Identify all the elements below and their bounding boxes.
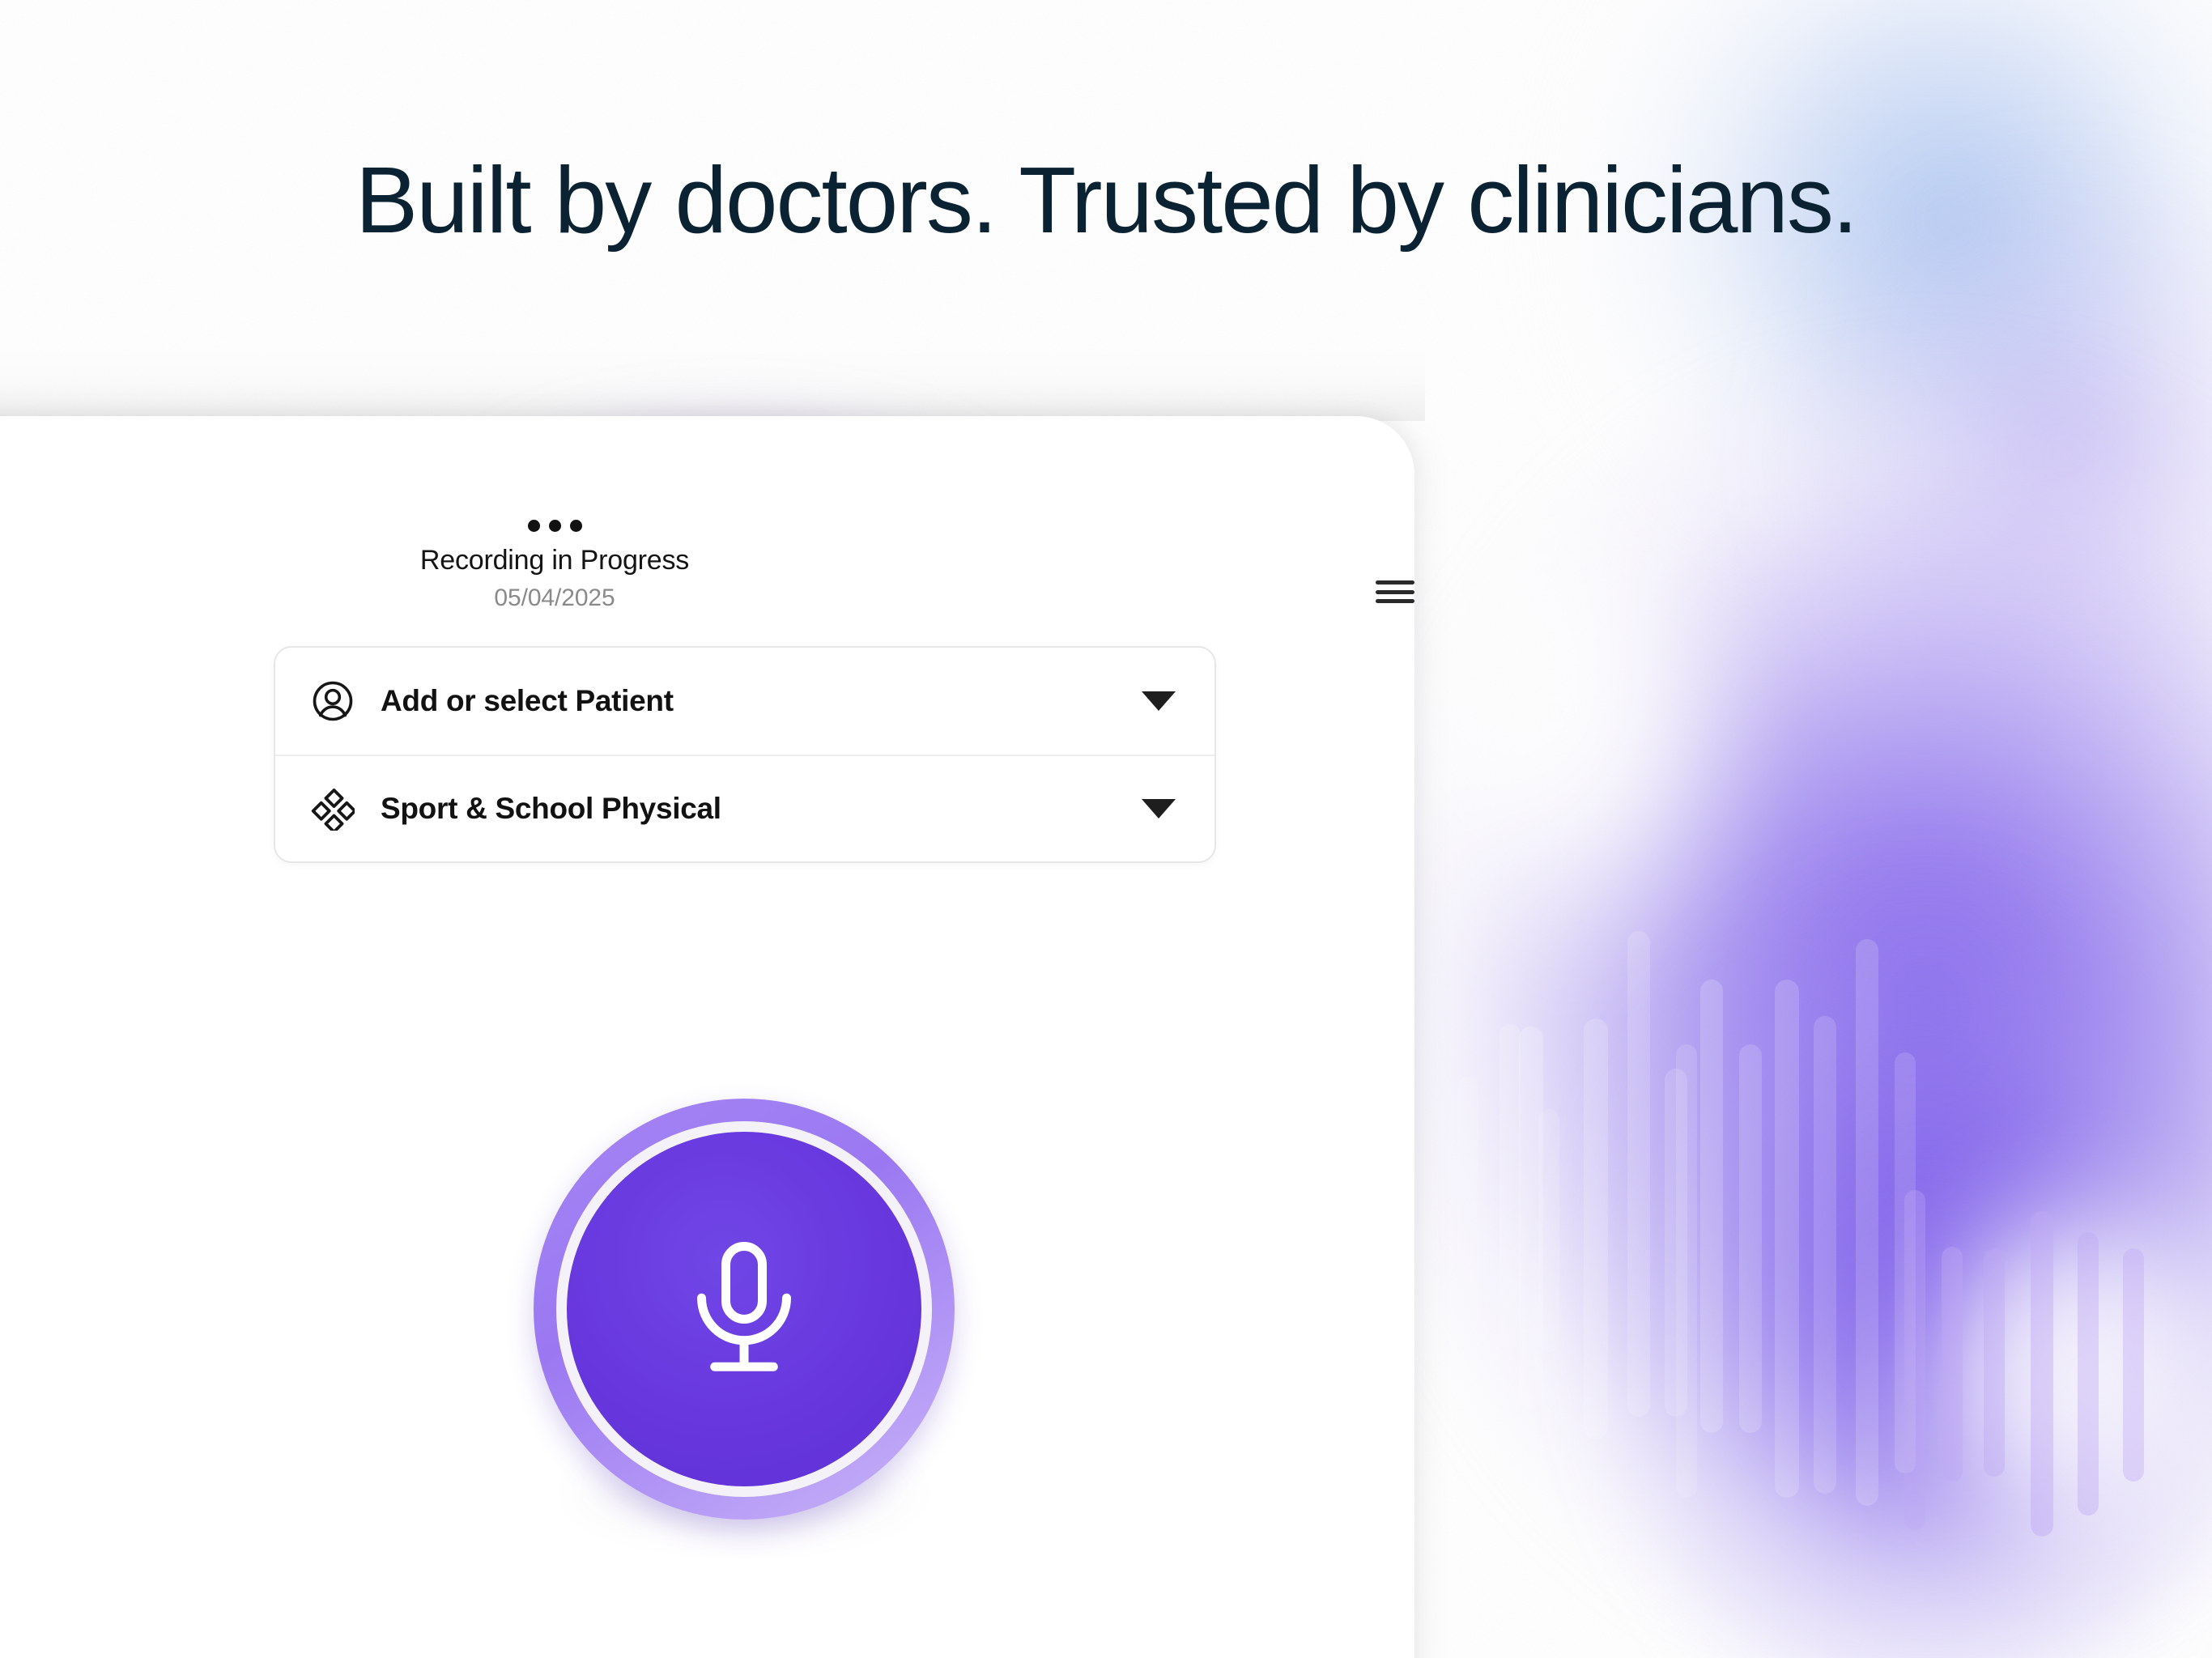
waveform-bar — [1665, 1069, 1687, 1417]
waveform-bar — [1984, 1248, 2005, 1477]
waveform-bar — [2031, 1211, 2053, 1537]
patient-selector-label: Add or select Patient — [381, 684, 674, 718]
diamond-cluster-icon — [311, 787, 355, 831]
waveform-bar — [1700, 980, 1723, 1433]
microphone-icon — [683, 1240, 805, 1378]
recording-date: 05/04/2025 — [352, 585, 757, 612]
record-button-wrapper: Start recording — [534, 1099, 955, 1520]
waveform-bar — [1739, 1044, 1762, 1433]
patient-selector-row[interactable]: Add or select Patient — [275, 648, 1214, 755]
waveform-bar — [1814, 1016, 1836, 1494]
waveform-bar — [2078, 1232, 2099, 1516]
blue-gradient-blob — [1522, 0, 2212, 648]
waveform-bar — [1519, 1027, 1543, 1407]
recording-status-title: Recording in Progress — [352, 543, 757, 578]
waveform-bar — [1895, 1052, 1916, 1473]
user-circle-icon — [311, 679, 355, 723]
waveform-bar — [1538, 1109, 1559, 1352]
card-top-shadow — [0, 348, 1425, 421]
waveform-bar — [1775, 980, 1799, 1498]
recording-status-block: Recording in Progress 05/04/2025 — [352, 520, 757, 612]
three-dots-icon — [352, 520, 757, 532]
purple-deep-blob — [1571, 850, 2212, 1658]
record-button[interactable]: Start recording — [567, 1132, 921, 1486]
selector-panel: Add or select Patient Sport & School Phy… — [274, 646, 1216, 863]
waveform-bar — [1499, 1024, 1521, 1348]
chevron-down-icon[interactable] — [1142, 691, 1176, 711]
template-selector-row[interactable]: Sport & School Physical — [275, 755, 1214, 861]
waveform-bar — [1457, 1077, 1478, 1344]
waveform-bar — [1942, 1247, 1963, 1482]
screenshot-root: Built by doctors. Trusted by clinicians.… — [0, 0, 2212, 1658]
purple-gradient-blob — [1344, 267, 2212, 1658]
waveform-bar — [2123, 1248, 2144, 1482]
page-headline: Built by doctors. Trusted by clinicians. — [0, 146, 2212, 254]
chevron-down-icon[interactable] — [1142, 799, 1176, 818]
waveform-bar — [1676, 1044, 1697, 1498]
template-selector-label: Sport & School Physical — [381, 792, 721, 826]
app-preview-card: Recording in Progress 05/04/2025 Add or … — [0, 416, 1414, 1658]
waveform-bar — [1584, 1018, 1608, 1439]
white-glow-blob-lower — [1854, 1133, 2212, 1658]
waveform-bar — [1904, 1190, 1925, 1530]
waveform-bar — [1627, 931, 1650, 1417]
waveform-bar — [1856, 939, 1878, 1506]
hamburger-menu-icon[interactable] — [1376, 577, 1414, 606]
